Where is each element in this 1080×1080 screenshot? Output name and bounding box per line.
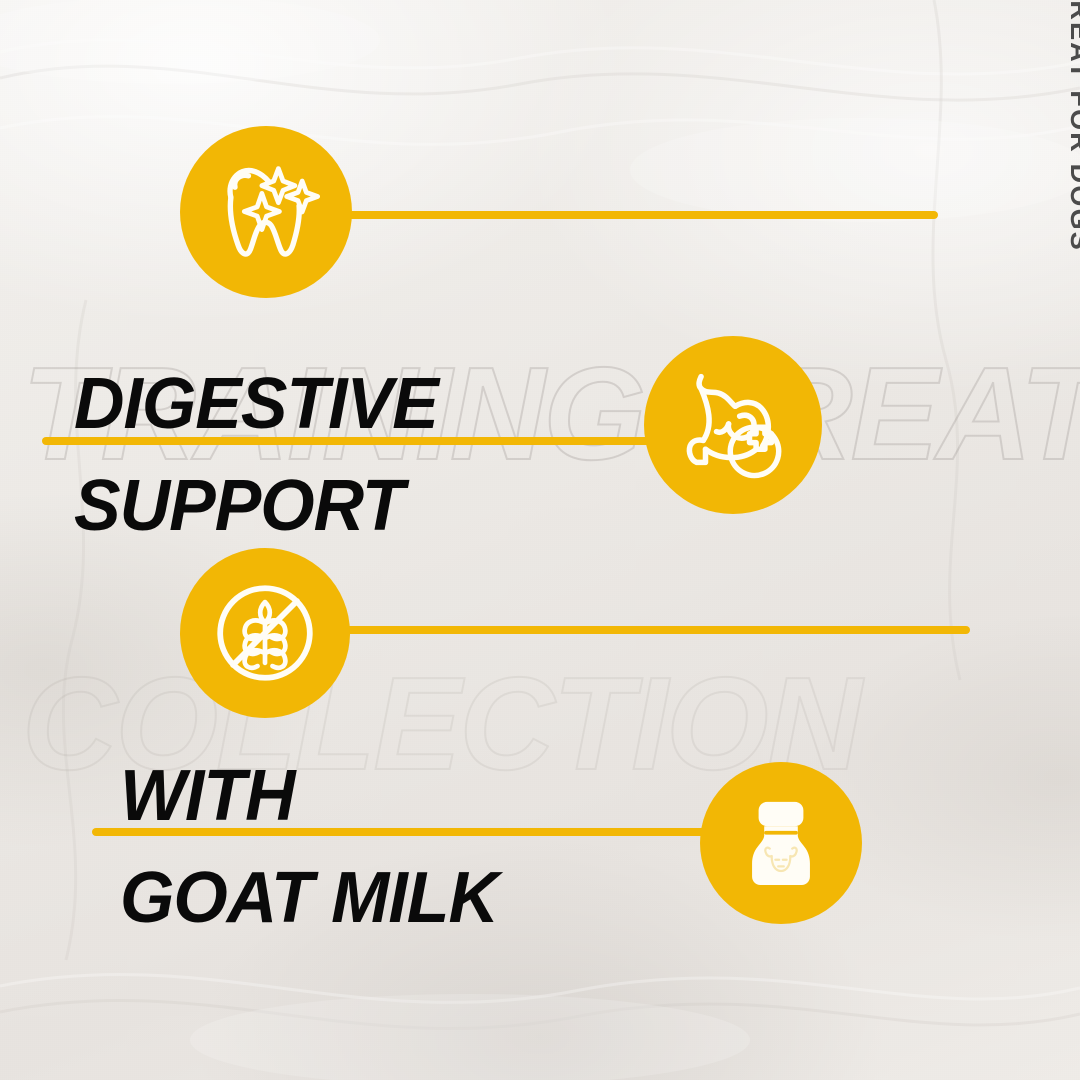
connector-bar-1	[330, 211, 938, 219]
stomach-plus-icon-badge[interactable]	[644, 336, 822, 514]
tooth-sparkle-icon	[204, 150, 328, 274]
tooth-sparkle-icon-badge[interactable]	[180, 126, 352, 298]
side-caption: TRAINING TREAT FOR DOGS	[1064, 0, 1080, 252]
no-wheat-icon	[201, 569, 329, 697]
no-wheat-icon-badge[interactable]	[180, 548, 350, 718]
milk-bottle-icon-badge[interactable]	[700, 762, 862, 924]
feature-line-1: WITH	[120, 758, 498, 834]
milk-bottle-icon	[725, 787, 837, 899]
feature-line-2: GOAT MILK	[120, 860, 498, 936]
stomach-plus-icon	[667, 359, 799, 491]
feature-text-goat-milk: WITH GOAT MILK	[120, 758, 510, 936]
connector-bar-3	[330, 626, 970, 634]
feature-list: ACTIVE + ORAL CARE	[0, 0, 1080, 1080]
feature-line-1: DIGESTIVE	[74, 366, 438, 442]
feature-text-digestive-support: DIGESTIVE SUPPORT	[74, 366, 449, 544]
feature-line-2: SUPPORT	[74, 468, 438, 544]
